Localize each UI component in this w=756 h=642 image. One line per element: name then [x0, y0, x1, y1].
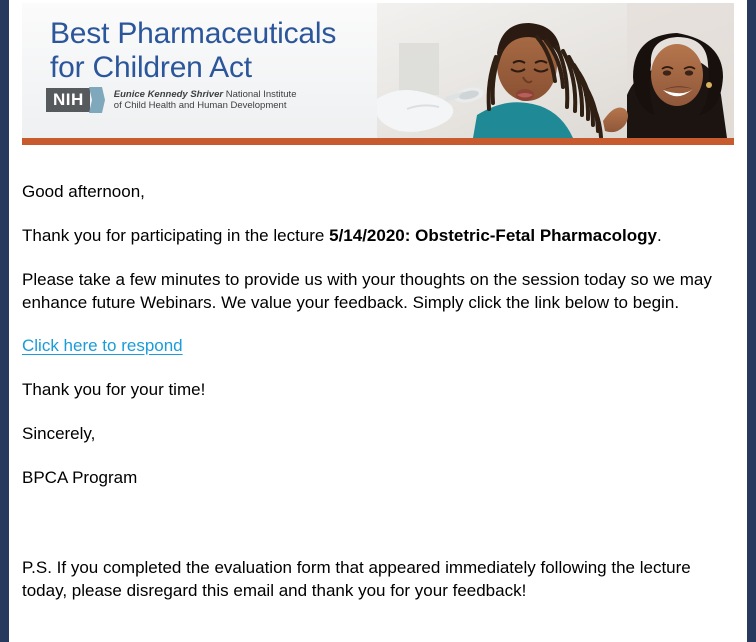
- click-here-to-respond-link[interactable]: Click here to respond: [22, 336, 183, 355]
- banner-photo-illustration: [377, 3, 734, 138]
- lecture-thanks-paragraph: Thank you for participating in the lectu…: [22, 224, 738, 247]
- postscript-text: P.S. If you completed the evaluation for…: [22, 556, 738, 602]
- banner-branding-panel: Best Pharmaceuticals for Children Act NI…: [22, 3, 377, 138]
- nih-chevron-icon: [89, 87, 105, 113]
- banner-title-line2: for Children Act: [50, 51, 252, 84]
- email-letter: Good afternoon, Thank you for participat…: [22, 180, 738, 602]
- banner-orange-divider: [22, 138, 734, 145]
- email-header-banner: Best Pharmaceuticals for Children Act NI…: [22, 3, 734, 145]
- banner-photo: [377, 3, 734, 138]
- respond-link-line: Click here to respond: [22, 335, 738, 357]
- thank-you-time-text: Thank you for your time!: [22, 378, 738, 401]
- lecture-title: 5/14/2020: Obstetric-Fetal Pharmacology: [329, 226, 657, 245]
- thanks-prefix: Thank you for participating in the lectu…: [22, 226, 329, 245]
- nih-institute-italic: Eunice Kennedy Shriver: [114, 89, 223, 100]
- letter-spacer: [22, 510, 738, 556]
- signoff-text: Sincerely,: [22, 422, 738, 445]
- nih-logo: NIH Eunice Kennedy Shriver National Inst…: [46, 87, 296, 113]
- nih-institute-name: Eunice Kennedy Shriver National Institut…: [114, 89, 297, 112]
- nih-institute-rest: National Institute: [223, 89, 296, 100]
- left-accent-bar: [0, 0, 9, 642]
- signature-text: BPCA Program: [22, 466, 738, 489]
- greeting-text: Good afternoon,: [22, 180, 738, 203]
- nih-institute-line2: of Child Health and Human Development: [114, 100, 297, 112]
- feedback-request-paragraph: Please take a few minutes to provide us …: [22, 268, 738, 314]
- nih-wordmark: NIH: [46, 88, 90, 112]
- email-body: Best Pharmaceuticals for Children Act NI…: [9, 0, 747, 642]
- banner-title-line1: Best Pharmaceuticals: [50, 17, 336, 50]
- banner-title: Best Pharmaceuticals for Children Act: [50, 17, 336, 85]
- thanks-suffix: .: [657, 226, 662, 245]
- nih-logo-mark: NIH: [46, 87, 105, 113]
- right-accent-bar: [747, 0, 756, 642]
